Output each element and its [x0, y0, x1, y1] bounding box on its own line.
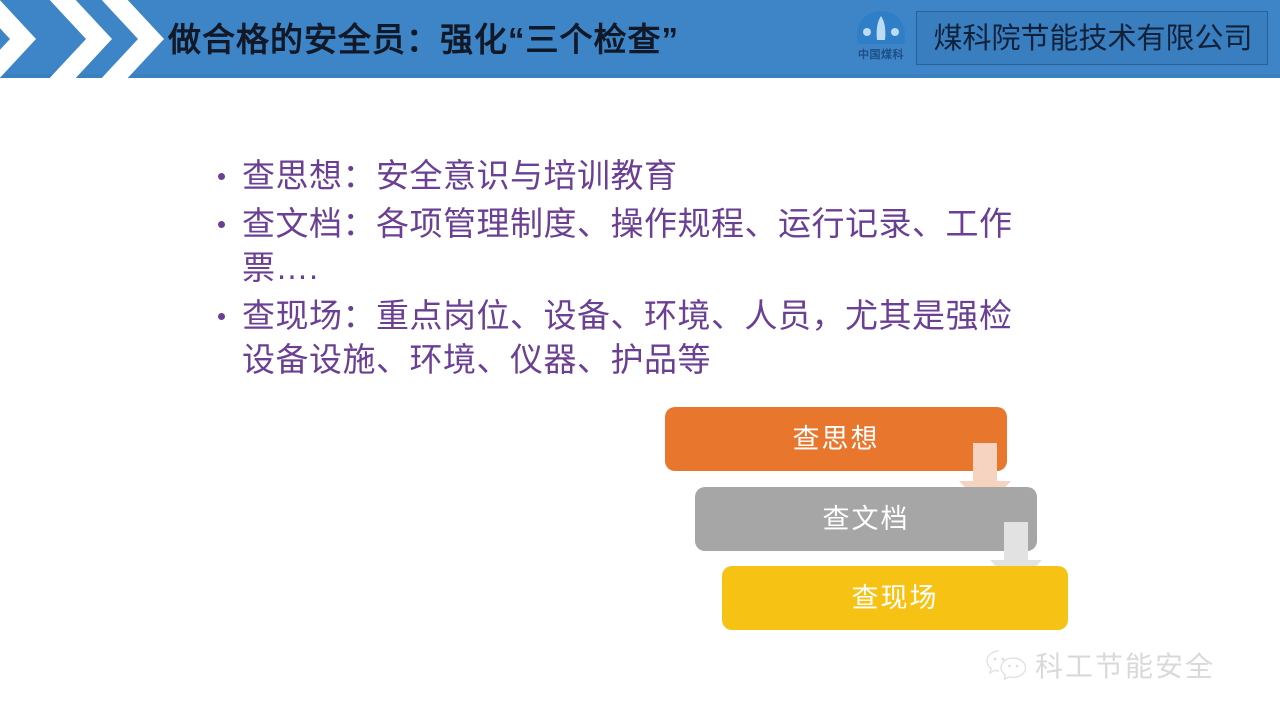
- page-title: 做合格的安全员：强化“三个检查”: [168, 14, 679, 66]
- company-name-box: 煤科院节能技术有限公司: [916, 11, 1268, 65]
- slide-canvas: 做合格的安全员：强化“三个检查” 中国煤科 煤科院节能技术有限公司 查思想：安全…: [0, 0, 1280, 720]
- china-coal-logo: 中国煤科: [846, 8, 916, 70]
- bullet-dot-icon: [218, 313, 225, 320]
- bullet-list: 查思想：安全意识与培训教育 查文档：各项管理制度、操作规程、运行记录、工作票….…: [214, 154, 1044, 386]
- stair-step-2: 查文档: [695, 487, 1037, 551]
- watermark: 科工节能安全: [985, 642, 1265, 688]
- header-bottom-edge: [0, 74, 1280, 78]
- list-item: 查现场：重点岗位、设备、环境、人员，尤其是强检设备设施、环境、仪器、护品等: [214, 294, 1044, 382]
- bullet-dot-icon: [218, 221, 225, 228]
- company-name-label: 煤科院节能技术有限公司: [917, 12, 1269, 66]
- list-item: 查思想：安全意识与培训教育: [214, 154, 1044, 198]
- china-coal-logo-caption: 中国煤科: [846, 46, 916, 62]
- stair-step-1: 查思想: [665, 407, 1007, 471]
- staircase-diagram: 查思想 查文档 查现场: [640, 395, 1090, 645]
- list-item-text: 查文档：各项管理制度、操作规程、运行记录、工作票….: [242, 205, 1013, 286]
- chevron-2-icon: [98, 0, 168, 78]
- list-item-text: 查思想：安全意识与培训教育: [242, 157, 678, 194]
- chevron-partial-left-icon: [0, 0, 40, 78]
- bullet-dot-icon: [218, 173, 225, 180]
- stair-step-3: 查现场: [722, 566, 1068, 630]
- list-item: 查文档：各项管理制度、操作规程、运行记录、工作票….: [214, 202, 1044, 290]
- watermark-text: 科工节能安全: [1035, 645, 1215, 685]
- wechat-icon: [985, 648, 1027, 682]
- list-item-text: 查现场：重点岗位、设备、环境、人员，尤其是强检设备设施、环境、仪器、护品等: [242, 297, 1013, 378]
- china-coal-logo-icon: [854, 10, 908, 46]
